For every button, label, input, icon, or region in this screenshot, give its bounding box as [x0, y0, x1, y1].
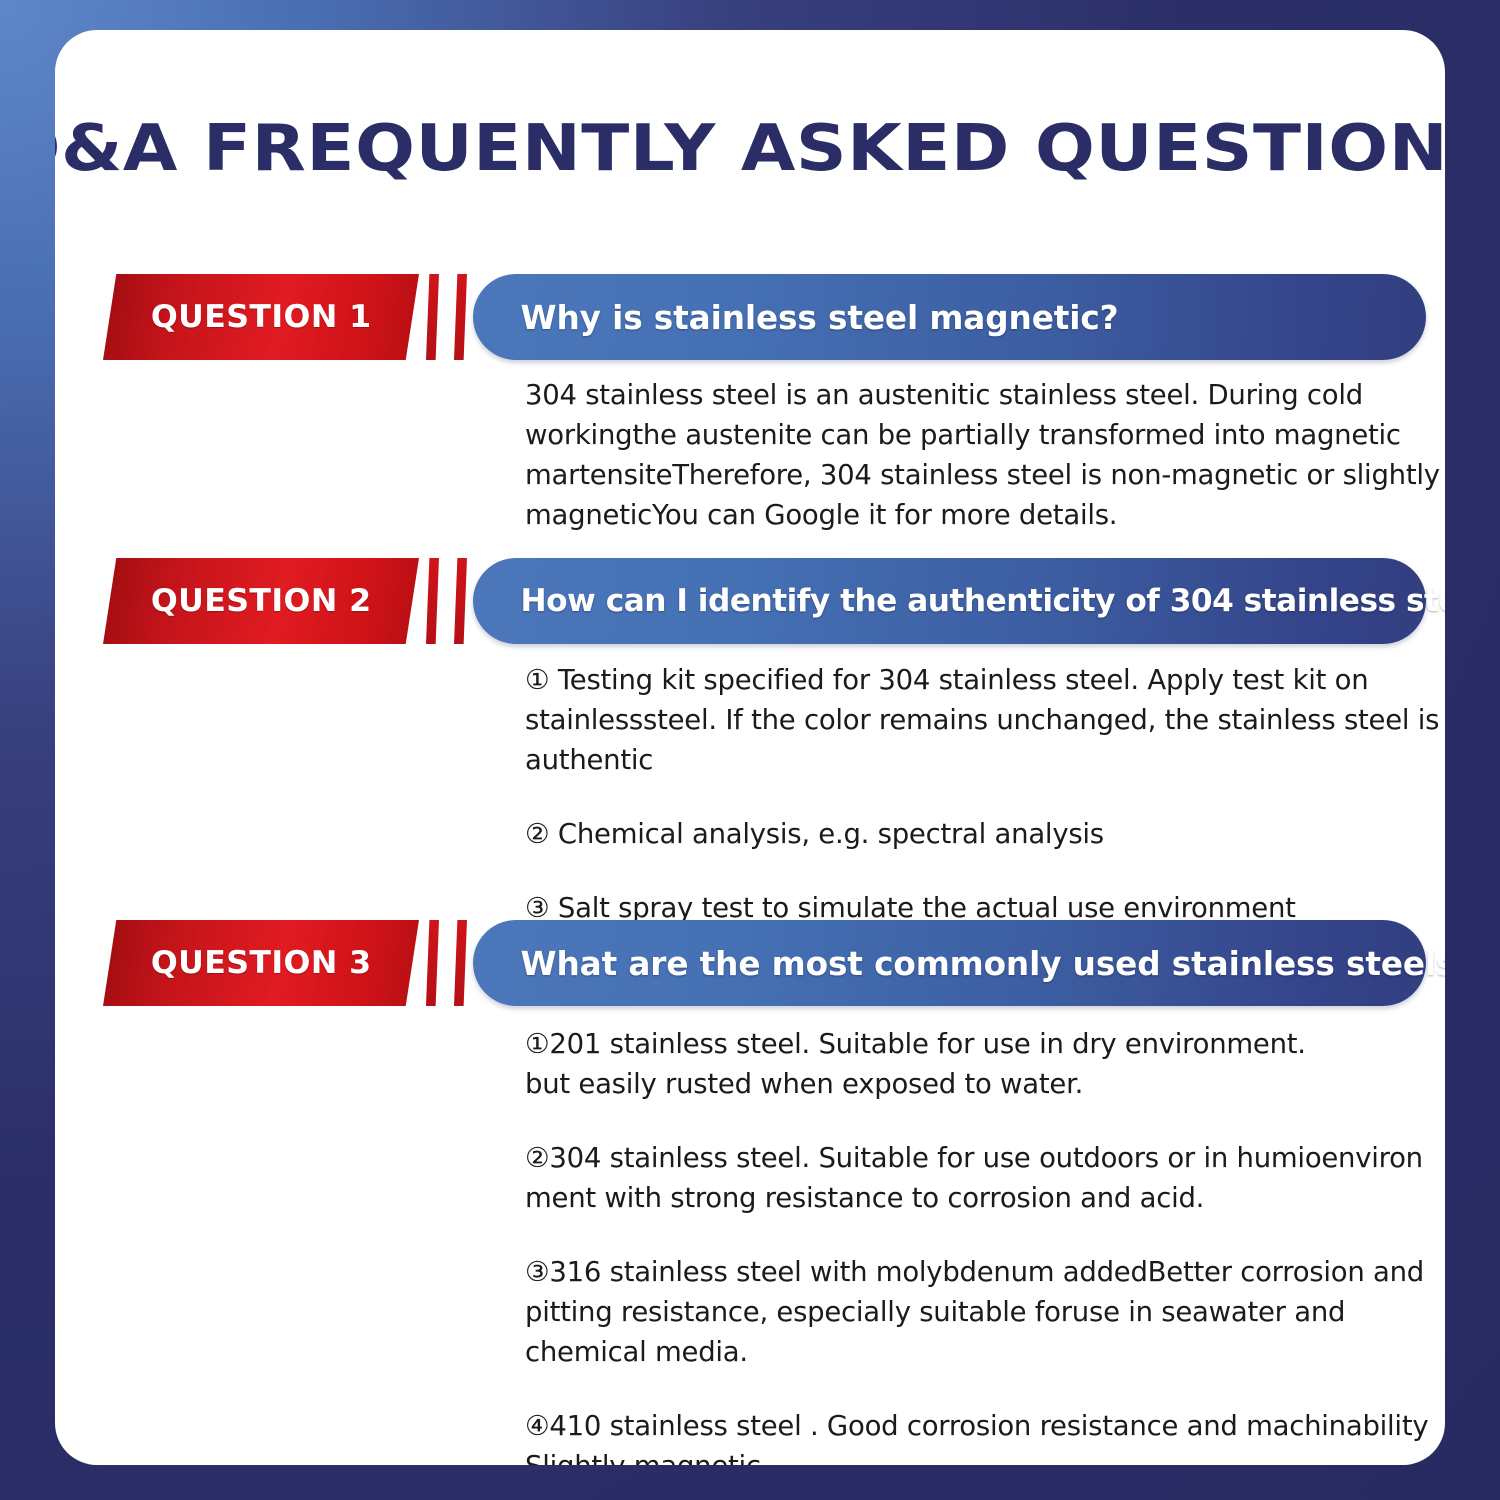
question-pill-3[interactable]: What are the most commonly used stainles… [473, 920, 1426, 1006]
slash-decoration-icon [454, 274, 467, 360]
question-number-tag-1[interactable]: QUESTION 1 [103, 274, 419, 360]
question-header-1: QUESTION 1 Why is stainless steel magnet… [55, 274, 1445, 360]
question-text-1: Why is stainless steel magnetic? [473, 298, 1142, 337]
slash-decoration-icon [426, 274, 439, 360]
question-pill-2[interactable]: How can I identify the authenticity of 3… [473, 558, 1426, 644]
answer-paragraph: ②304 stainless steel. Suitable for use o… [525, 1138, 1445, 1218]
faq-card: Q&A FREQUENTLY ASKED QUESTIONS QUESTION … [55, 30, 1445, 1465]
question-text-3: What are the most commonly used stainles… [473, 944, 1445, 983]
question-number-label-3: QUESTION 3 [151, 945, 372, 981]
answer-paragraph: 304 stainless steel is an austenitic sta… [525, 375, 1445, 535]
answer-paragraph: ① Testing kit specified for 304 stainles… [525, 660, 1445, 780]
slash-decoration-icon [454, 558, 467, 644]
page-title: Q&A FREQUENTLY ASKED QUESTIONS [55, 112, 1445, 186]
question-number-label-1: QUESTION 1 [151, 299, 372, 335]
answer-body-3: ①201 stainless steel. Suitable for use i… [525, 1024, 1445, 1465]
answer-paragraph: ③316 stainless steel with molybdenum add… [525, 1252, 1445, 1372]
question-text-2: How can I identify the authenticity of 3… [473, 583, 1445, 619]
question-pill-1[interactable]: Why is stainless steel magnetic? [473, 274, 1426, 360]
answer-body-1: 304 stainless steel is an austenitic sta… [525, 375, 1445, 535]
answer-paragraph: ④410 stainless steel . Good corrosion re… [525, 1406, 1445, 1465]
answer-paragraph: ② Chemical analysis, e.g. spectral analy… [525, 814, 1445, 854]
slash-decoration-icon [454, 920, 467, 1006]
question-number-tag-2[interactable]: QUESTION 2 [103, 558, 419, 644]
answer-paragraph: ①201 stainless steel. Suitable for use i… [525, 1024, 1445, 1104]
question-header-3: QUESTION 3 What are the most commonly us… [55, 920, 1445, 1006]
question-number-tag-3[interactable]: QUESTION 3 [103, 920, 419, 1006]
question-number-label-2: QUESTION 2 [151, 583, 372, 619]
answer-body-2: ① Testing kit specified for 304 stainles… [525, 660, 1445, 928]
page-background: Q&A FREQUENTLY ASKED QUESTIONS QUESTION … [0, 0, 1500, 1500]
slash-decoration-icon [426, 558, 439, 644]
slash-decoration-icon [426, 920, 439, 1006]
question-header-2: QUESTION 2 How can I identify the authen… [55, 558, 1445, 644]
